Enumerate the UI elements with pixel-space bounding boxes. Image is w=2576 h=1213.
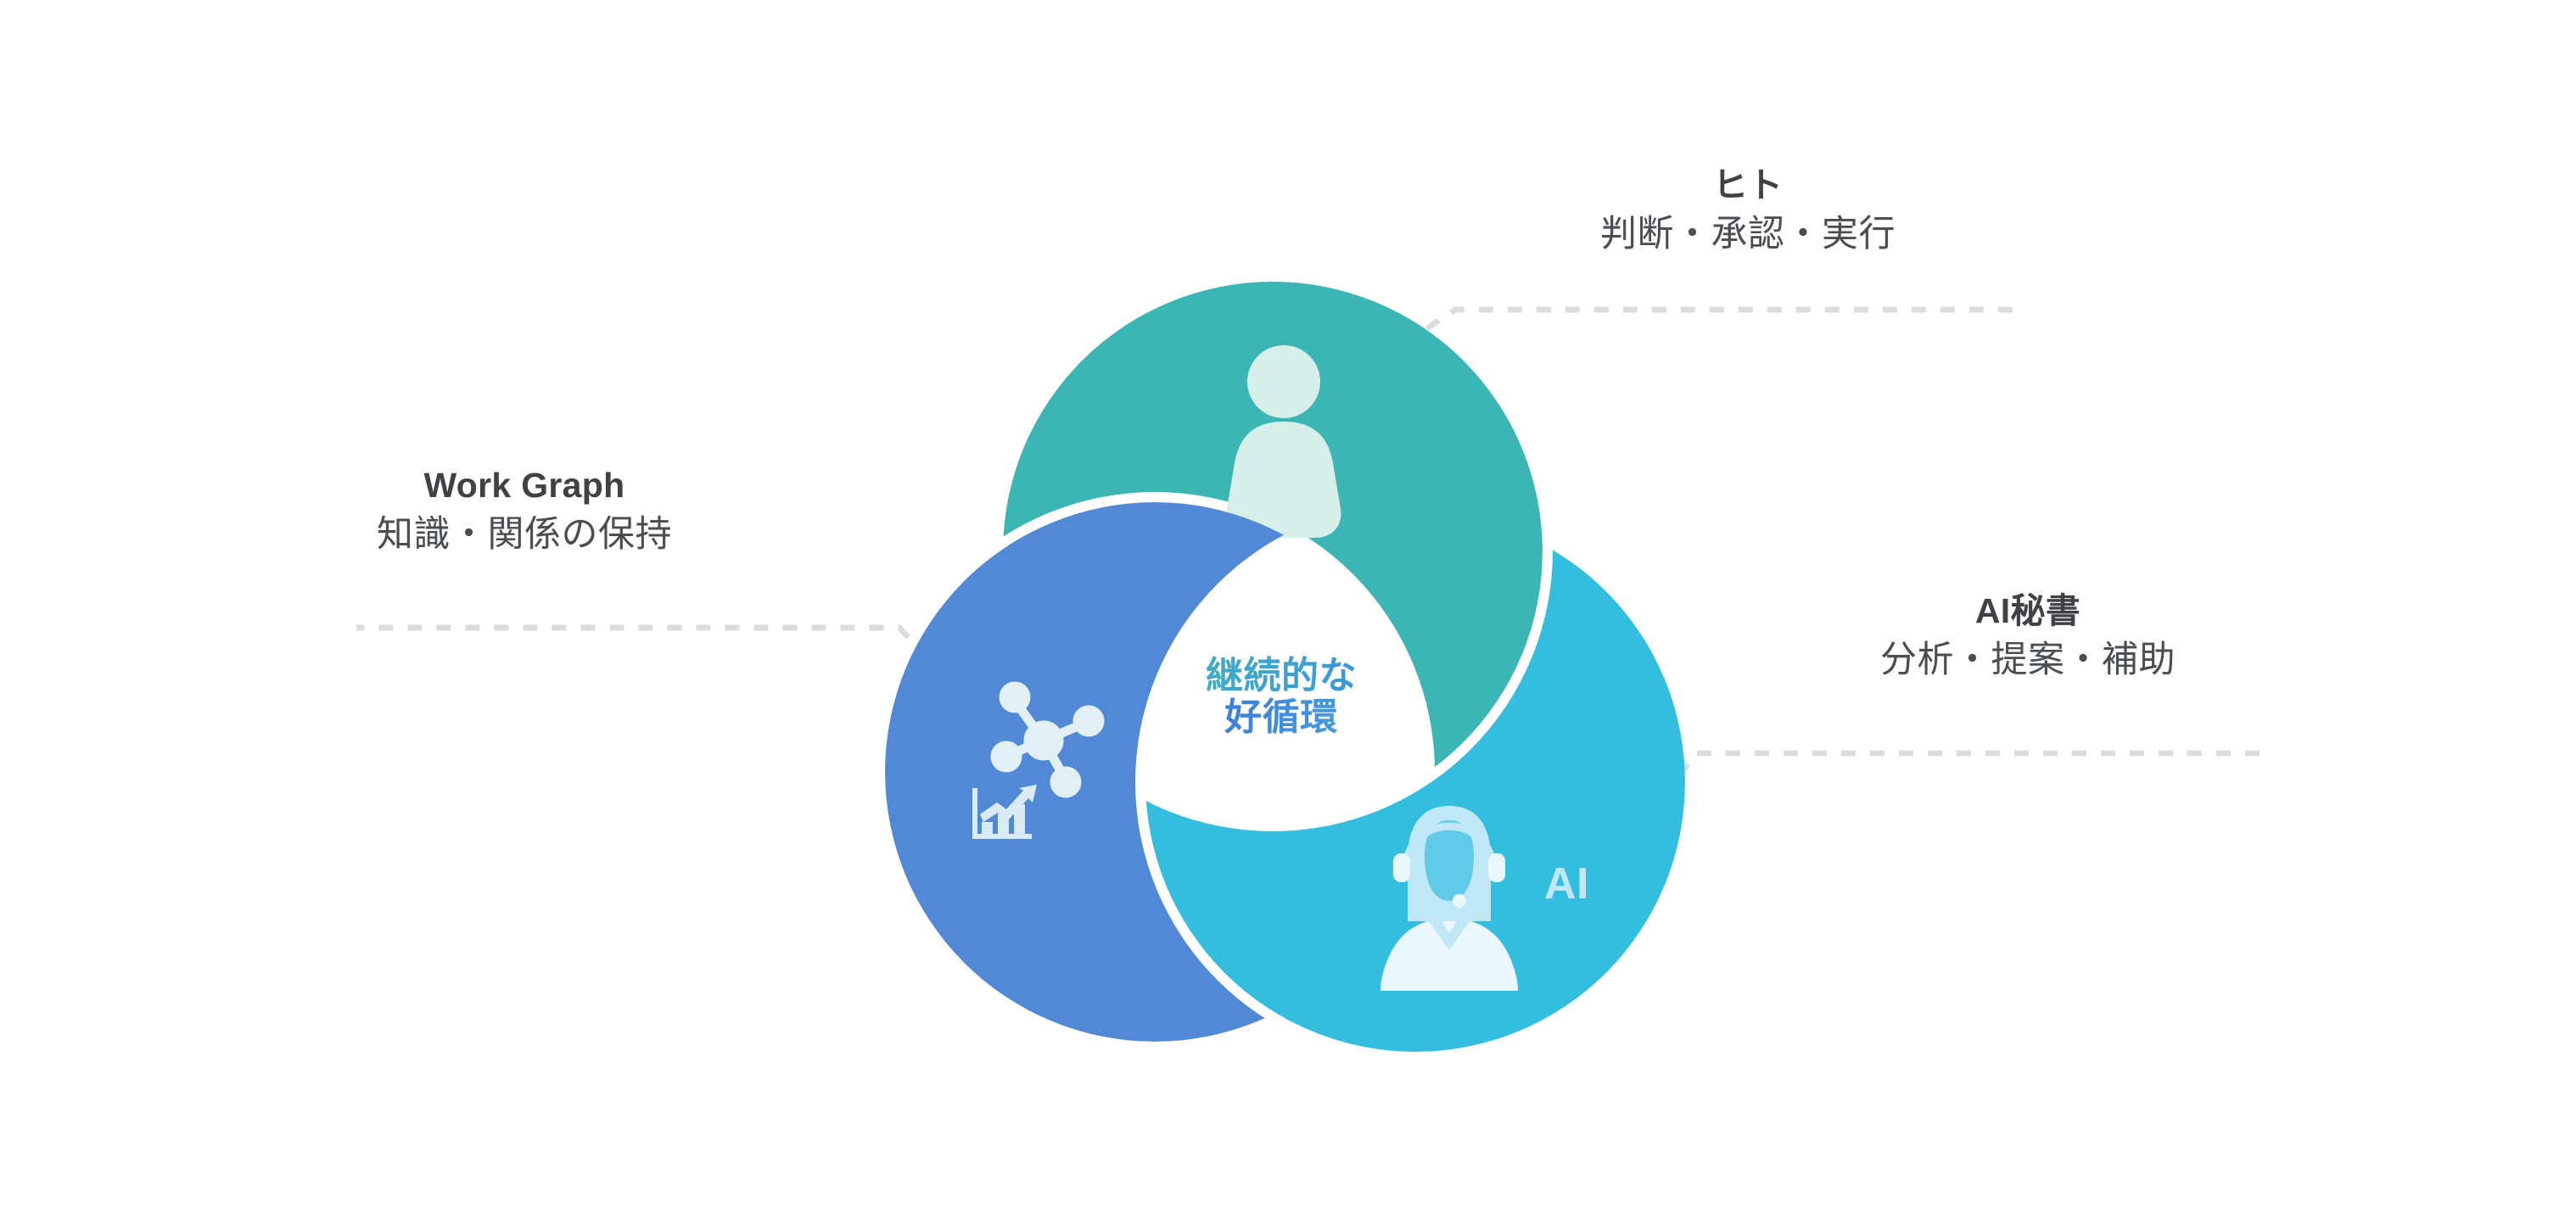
callout-human: ヒト 判断・承認・実行 (1434, 168, 2062, 253)
center-label-line-2: 好循環 (1128, 696, 1434, 738)
callout-human-subtitle: 判断・承認・実行 (1434, 216, 2062, 253)
center-label: 継続的な 好循環 (1128, 655, 1434, 739)
ai-badge-label: AI (1544, 858, 1589, 909)
callout-ai-secretary-subtitle: 分析・提案・補助 (1655, 642, 2401, 679)
connector-human (1379, 310, 2016, 361)
callout-work-graph-subtitle: 知識・関係の保持 (210, 517, 838, 553)
callout-work-graph: Work Graph 知識・関係の保持 (210, 468, 838, 553)
concept-diagram: ヒト 判断・承認・実行 Work Graph 知識・関係の保持 AI秘書 分析・… (0, 0, 2576, 1213)
center-label-line-1: 継続的な (1128, 655, 1434, 696)
callout-human-title: ヒト (1434, 168, 2062, 203)
callout-work-graph-title: Work Graph (210, 468, 838, 503)
connector-ai-secretary (1614, 753, 2260, 870)
lobe-ai-secretary[interactable] (1145, 512, 1685, 1052)
callout-ai-secretary: AI秘書 分析・提案・補助 (1655, 594, 2401, 679)
callout-ai-secretary-title: AI秘書 (1655, 594, 2401, 629)
